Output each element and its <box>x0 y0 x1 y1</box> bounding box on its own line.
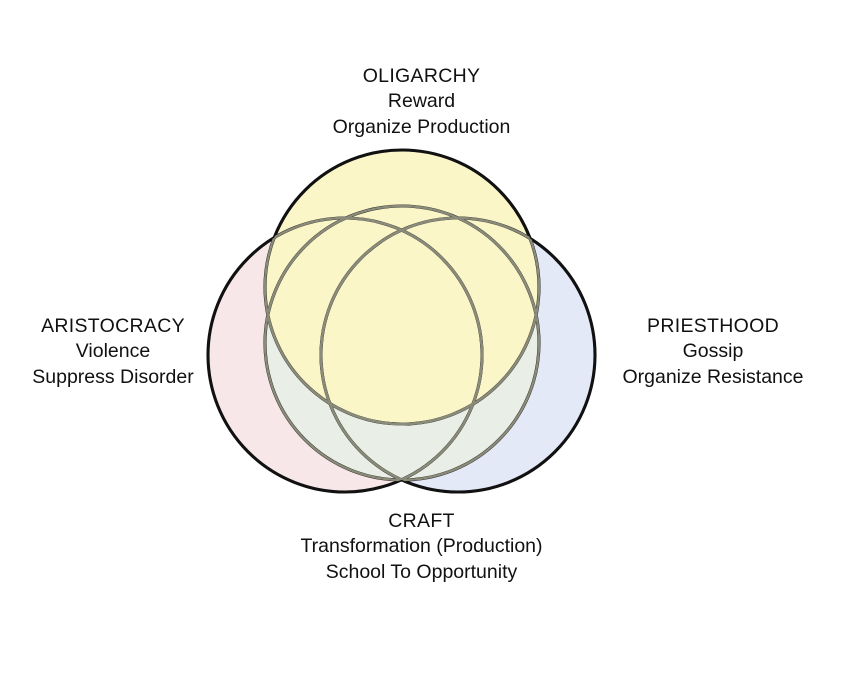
venn-diagram-canvas: OLIGARCHY Reward Organize Production ARI… <box>0 0 843 677</box>
label-craft-title: CRAFT <box>0 509 843 534</box>
label-priesthood-title: PRIESTHOOD <box>600 314 826 339</box>
label-priesthood: PRIESTHOOD Gossip Organize Resistance <box>600 314 826 390</box>
label-aristocracy-line3: Suppress Disorder <box>18 365 208 390</box>
label-oligarchy: OLIGARCHY Reward Organize Production <box>0 64 843 140</box>
label-oligarchy-title: OLIGARCHY <box>0 64 843 89</box>
label-aristocracy-line2: Violence <box>18 339 208 364</box>
label-oligarchy-line3: Organize Production <box>0 115 843 140</box>
label-priesthood-line2: Gossip <box>600 339 826 364</box>
label-craft-line2: Transformation (Production) <box>0 534 843 559</box>
label-craft: CRAFT Transformation (Production) School… <box>0 509 843 585</box>
label-craft-line3: School To Opportunity <box>0 560 843 585</box>
label-aristocracy: ARISTOCRACY Violence Suppress Disorder <box>18 314 208 390</box>
label-priesthood-line3: Organize Resistance <box>600 365 826 390</box>
label-oligarchy-line2: Reward <box>0 89 843 114</box>
label-aristocracy-title: ARISTOCRACY <box>18 314 208 339</box>
